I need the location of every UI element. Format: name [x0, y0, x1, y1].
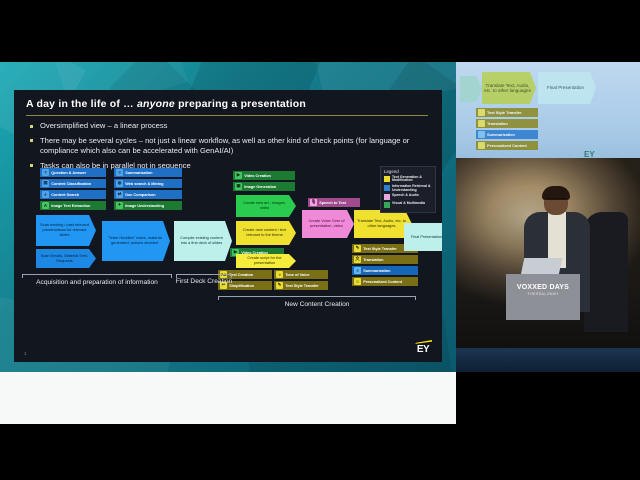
content-band: A day in the life of … anyone preparing …	[0, 62, 640, 424]
chevron-team-huddles: "Team Huddles" notes, material generated…	[102, 221, 170, 261]
title-divider	[26, 115, 428, 116]
badge-text-style-transfer: ✎Text Style Transfer	[274, 281, 328, 290]
diagram-legend: Legend Text Generation & Modification In…	[380, 166, 436, 213]
podium-line-2: THESSALONIKI	[510, 292, 576, 296]
badge-image-text-extraction: AImage Text Extraction	[40, 201, 106, 210]
translate-icon: 文	[354, 256, 361, 263]
legend-swatch	[384, 176, 390, 182]
image-icon: ▣	[235, 183, 242, 190]
podium-line-1: VOXXED DAYS	[510, 284, 576, 291]
phase-label-acquisition: Acquisition and preparation of informati…	[18, 279, 176, 287]
legend-row: Text Generation & Modification	[384, 176, 433, 184]
globe-icon: ◍	[116, 180, 123, 187]
phase-label-new-content: New Content Creation	[218, 301, 416, 309]
projected-chevron-final: Final Presentation	[538, 72, 596, 104]
person-icon: ☺	[354, 278, 361, 285]
screenshot-root: A day in the life of … anyone preparing …	[0, 0, 640, 480]
badge-summarization-right: ≡Summarization	[352, 266, 418, 275]
chevron-translate: Translate Text, Audio, etc. to other lan…	[354, 210, 412, 238]
badge-content-classification: ▤Content Classification	[40, 179, 106, 188]
projected-chevron-translate: Translate Text, Audio, etc. to other lan…	[482, 72, 536, 104]
summary-icon: ≡	[116, 169, 123, 176]
process-diagram: ?Question & Answer ▤Content Classificati…	[14, 166, 442, 362]
bullet-item: There may be several cycles – not just a…	[30, 136, 430, 157]
stage-floor	[456, 348, 640, 372]
video-panel[interactable]: Translate Text, Audio, etc. to other lan…	[456, 62, 640, 372]
presentation-slide: A day in the life of … anyone preparing …	[14, 90, 442, 362]
mic-icon: 🎙	[310, 199, 317, 206]
summary-icon: ≡	[354, 267, 361, 274]
translate-icon	[478, 120, 485, 127]
classify-icon: ▤	[42, 180, 49, 187]
badge-personalized-content: ☺Personalized Content	[352, 277, 418, 286]
chevron-scan-existing: Scan existing / past relevant presentati…	[36, 215, 96, 246]
speaker-glasses	[546, 198, 567, 202]
badge-video-creation: ▶Video Creation	[233, 171, 295, 180]
chevron-create-voice-over: Create Voice Over of presentation, video	[302, 210, 354, 238]
style-icon: ✎	[354, 245, 361, 252]
extract-icon: A	[42, 202, 49, 209]
bracket-acquisition	[22, 274, 172, 278]
badge-content-search: ⌕Content Search	[40, 190, 106, 199]
legend-title: Legend	[384, 169, 433, 174]
badge-summarization: ≡Summarization	[114, 168, 182, 177]
badge-image-understanding: ✦Image Understanding	[114, 201, 182, 210]
podium-label: VOXXED DAYS THESSALONIKI	[510, 284, 576, 296]
slide-title-italic: anyone	[137, 98, 175, 110]
chair	[584, 212, 628, 332]
slide-title-tail: preparing a presentation	[175, 98, 306, 110]
letterbox-top	[0, 0, 640, 62]
projected-badge-translation: Translation	[476, 119, 538, 128]
slide-title-plain: A day in the life of …	[26, 98, 137, 110]
chevron-scan-emails: Scan Emails, Material Sent, Requests	[36, 249, 96, 268]
phase-label-first-deck: First Deck Creation	[172, 278, 236, 286]
badge-doc-comparison: ⇄Doc Comparison	[114, 190, 182, 199]
projected-badge-summarization: Summarization	[476, 130, 538, 139]
legend-swatch	[384, 194, 390, 200]
badge-translation: 文Translation	[352, 255, 418, 264]
chevron-create-art: Create new art - images, video	[236, 195, 296, 217]
badge-tone-of-voice: ◑Tone of Voice	[274, 270, 328, 279]
chevron-final-presentation: Final Presentation	[404, 223, 442, 251]
legend-row: Speech & Audio	[384, 194, 433, 200]
podium	[506, 274, 580, 320]
chevron-compile-deck: Compile existing content into a first de…	[174, 221, 232, 261]
legend-row: Visual & Multimedia	[384, 202, 433, 208]
legend-row: Information Retrieval & Understanding	[384, 185, 433, 193]
summary-icon	[478, 131, 485, 138]
legend-swatch	[384, 185, 390, 191]
style-icon: ✎	[276, 282, 283, 289]
tone-icon: ◑	[276, 271, 283, 278]
video-icon: ▶	[235, 172, 242, 179]
badge-image-generation: ▣Image Generation	[233, 182, 295, 191]
letterbox-bottom	[0, 424, 640, 480]
bracket-new-content	[218, 296, 416, 300]
badge-question-answer: ?Question & Answer	[40, 168, 106, 177]
eye-icon: ✦	[116, 202, 123, 209]
chevron-create-script: Create script for the presentation	[236, 254, 296, 268]
slide-title: A day in the life of … anyone preparing …	[26, 98, 306, 110]
bullet-item: Oversimplified view – a linear process	[30, 121, 430, 132]
badge-speech-to-text: 🎙Speech to Text	[308, 198, 360, 207]
projected-badge-personalized-content: Personalized Content	[476, 141, 538, 150]
search-icon: ⌕	[42, 191, 49, 198]
compare-icon: ⇄	[116, 191, 123, 198]
person-icon	[478, 142, 485, 149]
qa-icon: ?	[42, 169, 49, 176]
badge-web-search-mining: ◍Web search & Mining	[114, 179, 182, 188]
white-strip	[0, 372, 456, 424]
style-icon	[478, 109, 485, 116]
projected-badge-text-style-transfer: Text Style Transfer	[476, 108, 538, 117]
legend-swatch	[384, 202, 390, 208]
chevron-create-content: Create new content / text relevant to th…	[236, 221, 296, 245]
